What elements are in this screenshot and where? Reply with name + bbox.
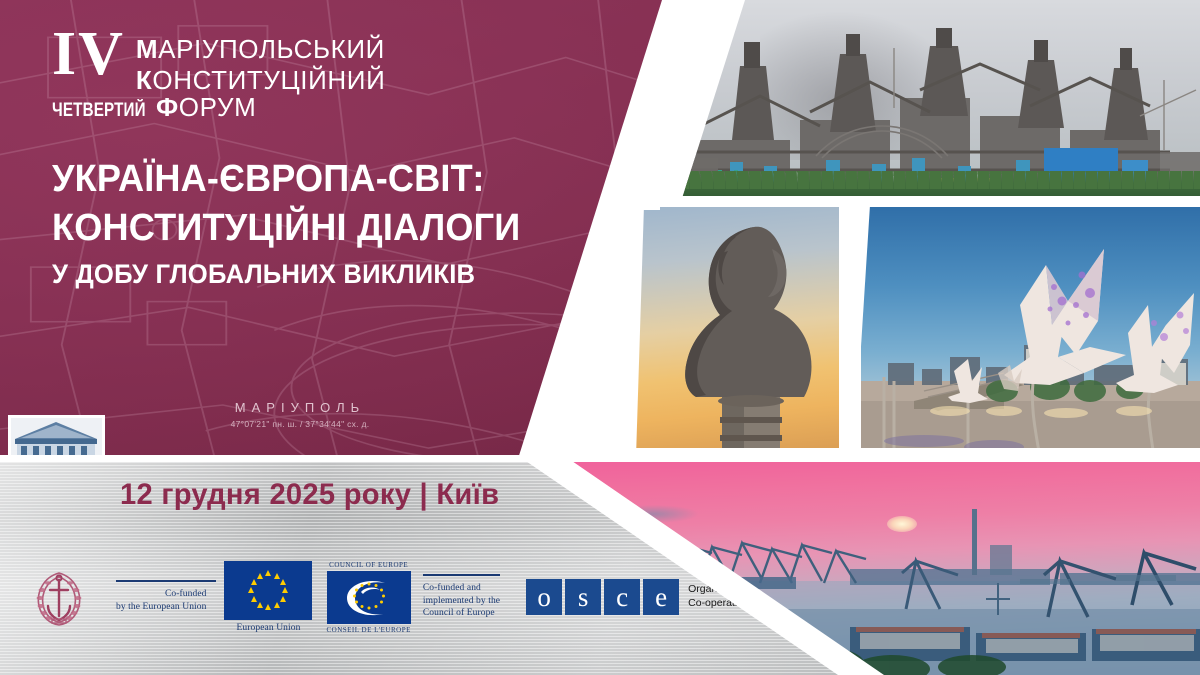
forum-roman-numeral: IV xyxy=(52,26,136,83)
photo-industrial-plant xyxy=(640,0,1200,205)
eu-star-icon xyxy=(274,573,280,579)
eu-flag-icon xyxy=(224,561,312,620)
forum-name-line-3: ФОРУМ xyxy=(156,92,256,123)
osce-letter-e: e xyxy=(643,579,679,615)
mariupol-coat-of-arms-icon xyxy=(30,566,88,628)
european-union-logo: European Union xyxy=(224,561,312,633)
photo-bird-sculptures xyxy=(854,205,1200,457)
coe-top-caption: COUNCIL OF EUROPE xyxy=(329,561,408,569)
coe-funding-text: Co-funded and implemented by the Council… xyxy=(423,574,500,620)
poster-title: УКРАЇНА-ЄВРОПА-СВІТ: КОНСТИТУЦІЙНІ ДІАЛО… xyxy=(52,155,572,292)
osce-letter-c: c xyxy=(604,579,640,615)
city-label-block: МАРІУПОЛЬ 47°07'21" пн. ш. / 37°34'44" с… xyxy=(150,400,450,429)
forum-name-line-1: МАРІУПОЛЬСЬКИЙ xyxy=(136,34,385,65)
eu-star-icon xyxy=(280,579,286,585)
osce-letter-s: s xyxy=(565,579,601,615)
eu-star-icon xyxy=(265,570,271,576)
eu-star-icon xyxy=(257,602,263,608)
eu-star-icon xyxy=(265,604,271,610)
osce-letter-o: o xyxy=(526,579,562,615)
eu-star-icon xyxy=(280,596,286,602)
eu-star-icon xyxy=(282,587,288,593)
eu-star-icon xyxy=(251,596,257,602)
birds-plaza-scene xyxy=(854,205,1200,457)
coe-bottom-caption: CONSEIL DE L'EUROPE xyxy=(326,626,410,634)
council-of-europe-logo: COUNCIL OF EUROPE CONSEIL DE xyxy=(326,561,410,634)
eu-star-icon xyxy=(248,587,254,593)
eu-star-icon xyxy=(251,579,257,585)
forum-ordinal-word: ЧЕТВЕРТИЙ xyxy=(52,100,148,122)
osce-letter-marks: o s c e xyxy=(526,579,679,615)
industrial-tree-line xyxy=(640,171,1200,205)
forum-name-line-2: КОНСТИТУЦІЙНИЙ xyxy=(136,65,385,96)
title-line-3: У ДОБУ ГЛОБАЛЬНИХ ВИКЛИКІВ xyxy=(52,257,546,293)
event-poster: IV МАРІУПОЛЬСЬКИЙ КОНСТИТУЦІЙНИЙ ЧЕТВЕРТ… xyxy=(0,0,1200,675)
eu-logo-caption: European Union xyxy=(237,623,301,633)
bust-statue-figure xyxy=(636,205,850,457)
title-line-2: КОНСТИТУЦІЙНІ ДІАЛОГИ xyxy=(52,204,546,253)
partner-logo-strip: Co-funded by the European Union European… xyxy=(30,566,824,628)
eu-funding-block: Co-funded by the European Union European… xyxy=(116,561,312,633)
city-name: МАРІУПОЛЬ xyxy=(150,400,450,415)
eu-funding-text: Co-funded by the European Union xyxy=(116,580,216,613)
eu-star-icon xyxy=(257,573,263,579)
title-line-1: УКРАЇНА-ЄВРОПА-СВІТ: xyxy=(52,155,546,204)
city-coordinates: 47°07'21" пн. ш. / 37°34'44" сх. д. xyxy=(150,419,450,429)
event-date-location: 12 грудня 2025 року | Київ xyxy=(120,478,499,512)
photo-bust-monument xyxy=(636,205,850,457)
coe-flag-icon xyxy=(327,571,411,624)
eu-star-icon xyxy=(274,602,280,608)
forum-logo-lockup: IV МАРІУПОЛЬСЬКИЙ КОНСТИТУЦІЙНИЙ ЧЕТВЕРТ… xyxy=(52,28,472,123)
